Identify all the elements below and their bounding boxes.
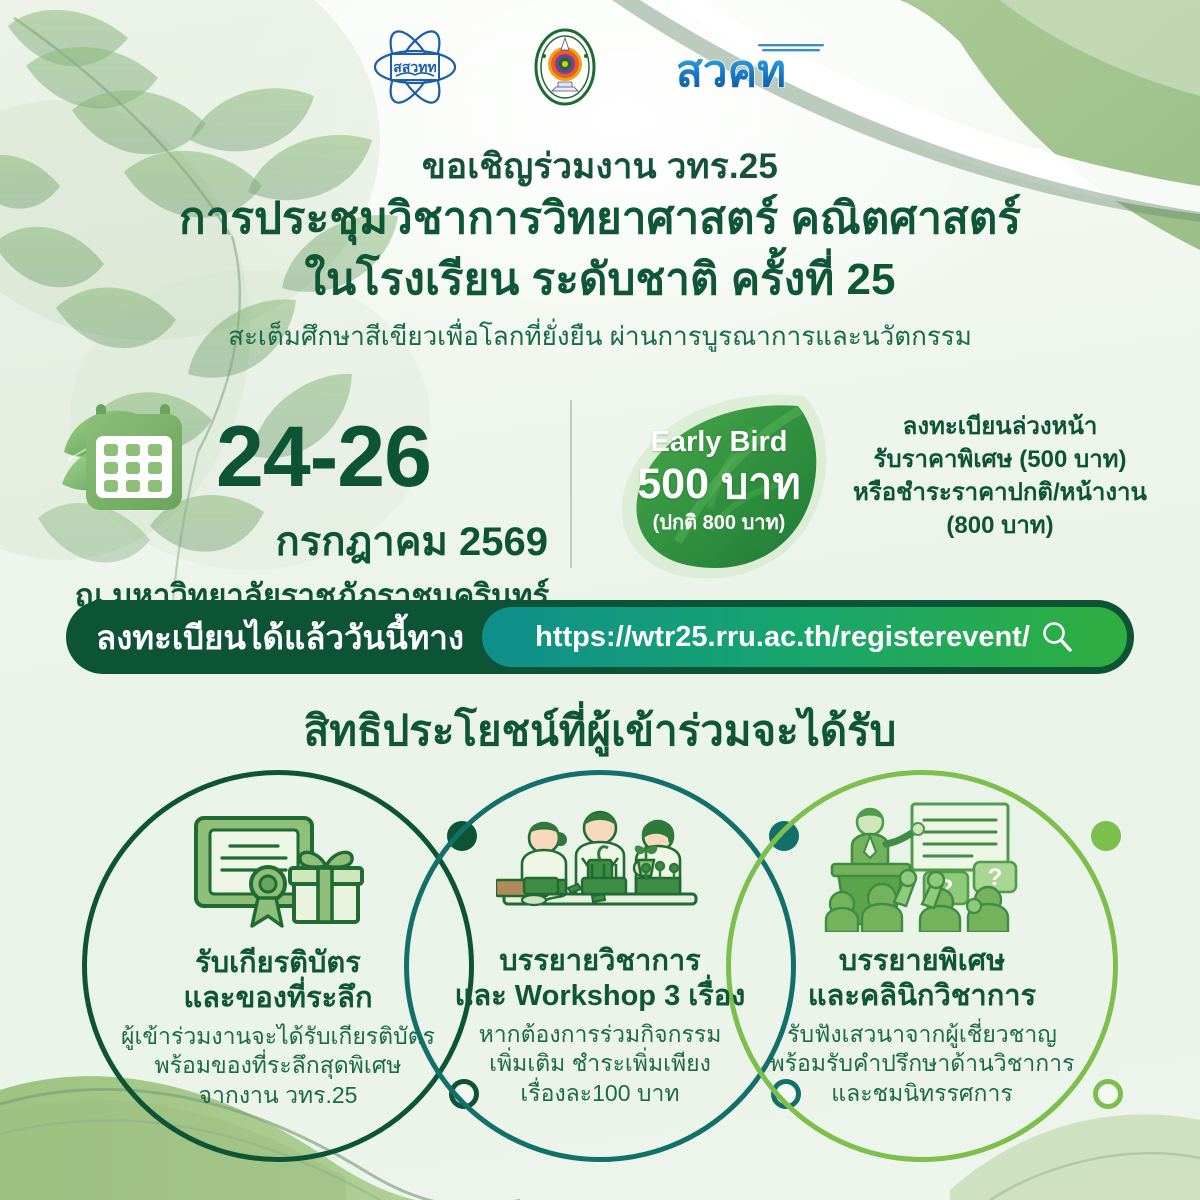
students-workshop-icon	[496, 802, 704, 932]
certificate-gift-icon	[190, 810, 366, 934]
calendar-leaf-icon	[62, 392, 210, 518]
pricing-details: ลงทะเบียนล่วงหน้า รับราคาพิเศษ (500 บาท)…	[846, 410, 1154, 542]
subtitle-theme: สะเต็มศึกษาสีเขียวเพื่อโลกที่ยั่งยืน ผ่า…	[0, 320, 1200, 354]
pricing-line-2: รับราคาพิเศษ (500 บาท)	[846, 443, 1154, 476]
registration-bar[interactable]: ลงทะเบียนได้แล้ววันนี้ทาง https://wtr25.…	[66, 600, 1134, 674]
benefit-card-3: ? ?	[726, 800, 1118, 1109]
vertical-divider	[570, 400, 572, 568]
event-month-year: กรกฎาคม 2569	[62, 522, 562, 562]
date-column: 24-26 กรกฎาคม 2569 ณ มหาวิทยาลัยราชภัฏรา…	[62, 392, 562, 620]
pricing-line-4: (800 บาท)	[846, 509, 1154, 542]
register-label: ลงทะเบียนได้แล้ววันนี้ทาง	[96, 611, 482, 664]
ipst-atom-logo: สสวทท	[372, 29, 458, 105]
search-icon[interactable]	[1040, 620, 1074, 654]
logo-row: สสวทท	[0, 28, 1200, 106]
register-url-pill[interactable]: https://wtr25.rru.ac.th/registerevent/	[482, 607, 1127, 667]
poster-canvas: สสวทท	[0, 0, 1200, 1200]
swkt-logo: สวคท	[672, 36, 828, 98]
main-title-line2: ในโรงเรียน ระดับชาติ ครั้งที่ 25	[0, 252, 1200, 308]
leaf-badge-shape	[604, 392, 834, 582]
pricing-line-3: หรือชำระราคาปกติ/หน้างาน	[846, 476, 1154, 509]
swkt-logo-text: สวคท	[676, 47, 786, 96]
register-url[interactable]: https://wtr25.rru.ac.th/registerevent/	[535, 621, 1030, 654]
benefits-circles: รับเกียรติบัตร และของที่ระลึก ผู้เข้าร่ว…	[0, 762, 1200, 1182]
benefit-3-title: บรรยายพิเศษ และคลินิกวิชาการ	[726, 944, 1118, 1014]
event-info-row: 24-26 กรกฎาคม 2569 ณ มหาวิทยาลัยราชภัฏรา…	[0, 392, 1200, 582]
main-title-line1: การประชุมวิชาการวิทยาศาสตร์ คณิตศาสตร์	[0, 191, 1200, 247]
university-seal-logo	[534, 28, 596, 106]
benefits-heading: สิทธิประโยชน์ที่ผู้เข้าร่วมจะได้รับ	[0, 698, 1200, 764]
invite-line: ขอเชิญร่วมงาน วทร.25	[0, 146, 1200, 187]
speaker-audience-icon: ? ?	[816, 802, 1028, 932]
ipst-logo-text: สสวทท	[393, 59, 436, 75]
benefit-3-desc: รับฟังเสวนาจากผู้เชี่ยวชาญ พร้อมรับคำปรึ…	[726, 1020, 1118, 1110]
title-block: ขอเชิญร่วมงาน วทร.25 การประชุมวิชาการวิท…	[0, 146, 1200, 354]
pricing-line-1: ลงทะเบียนล่วงหน้า	[846, 410, 1154, 443]
early-bird-badge: Early Bird 500 บาท (ปกติ 800 บาท)	[604, 392, 834, 582]
event-date-range: 24-26	[216, 412, 431, 497]
